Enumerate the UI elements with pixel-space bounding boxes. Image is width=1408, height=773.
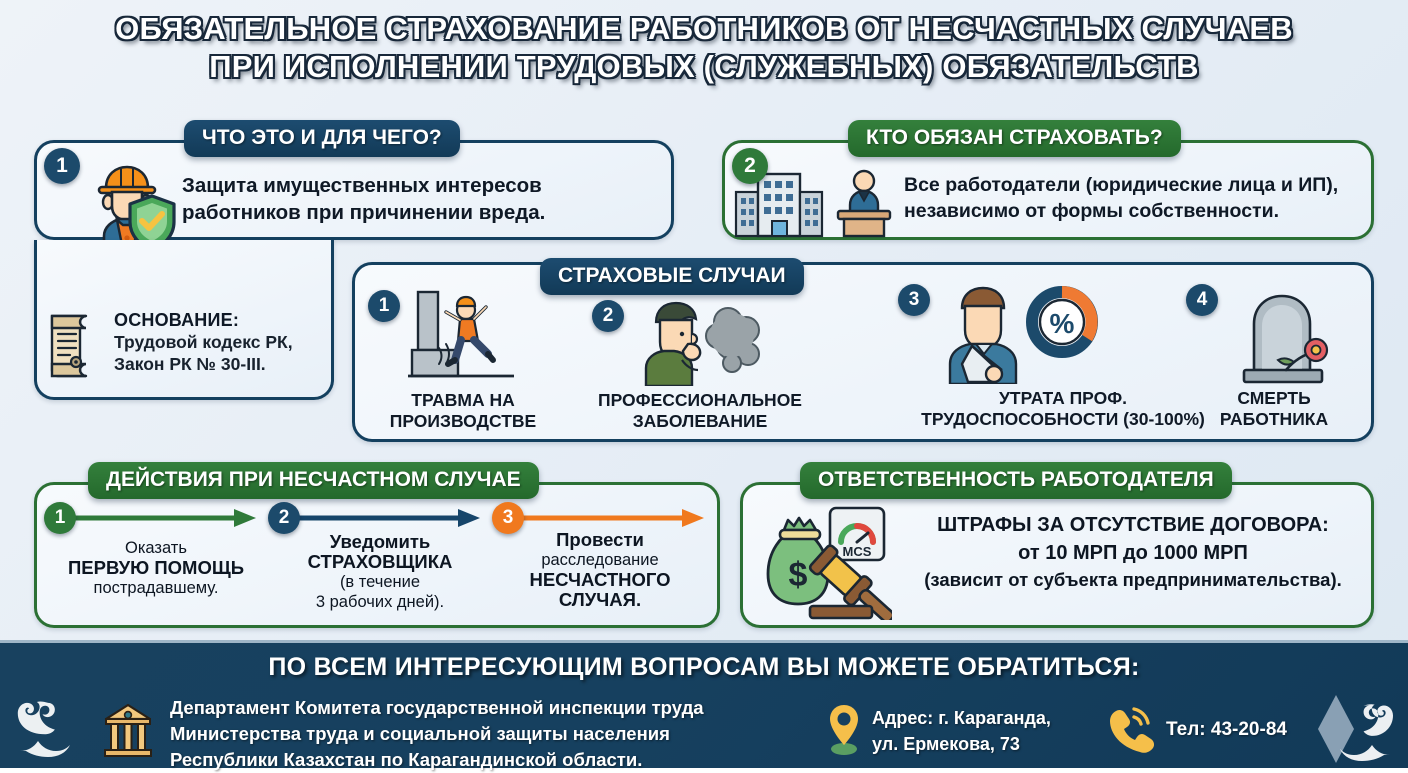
footer: ПО ВСЕМ ИНТЕРЕСУЮЩИМ ВОПРОСАМ ВЫ МОЖЕТЕ …: [0, 640, 1408, 768]
action-step-3: Провести расследование НЕСЧАСТНОГО СЛУЧА…: [496, 530, 704, 610]
heading-actions-on-accident: ДЕЙСТВИЯ ПРИ НЕСЧАСТНОМ СЛУЧАЕ: [88, 462, 539, 499]
heading-what-is-it: ЧТО ЭТО И ДЛЯ ЧЕГО?: [184, 120, 460, 157]
government-building-icon: [100, 703, 156, 766]
svg-text:%: %: [1050, 308, 1075, 339]
footer-phone: Тел: 43-20-84: [1166, 719, 1287, 741]
employer-responsibility-text: ШТРАФЫ ЗА ОТСУТСТВИЕ ДОГОВОРА: от 10 МРП…: [900, 512, 1366, 593]
badge-case-1: 1: [368, 290, 400, 322]
action-step-3-line-3: НЕСЧАСТНОГО: [496, 570, 704, 590]
falling-worker-icon: [404, 290, 558, 386]
phone-icon: [1104, 705, 1154, 762]
legal-basis-content: ОСНОВАНИЕ: Трудовой кодекс РК, Закон РК …: [46, 310, 293, 382]
footer-department-line-2: Министерства труда и социальной защиты н…: [170, 721, 810, 747]
footer-address-line-1: Адрес: г. Караганда,: [872, 705, 1112, 731]
kazakh-ornament-icon: [10, 695, 90, 772]
action-step-2: Уведомить СТРАХОВЩИКА (в течение 3 рабоч…: [272, 532, 488, 612]
insurance-case-3: 3 % УТРАТА ПРОФ. ТРУДОСПОСОБНОСТИ (30-10…: [898, 284, 1228, 430]
action-step-1-line-1: Оказать: [48, 538, 264, 558]
badge-action-3: 3: [492, 502, 524, 534]
fines-note: (зависит от субъекта предпринимательства…: [900, 567, 1366, 593]
heading-insurance-cases: СТРАХОВЫЕ СЛУЧАИ: [540, 258, 804, 295]
legal-basis-line-2: Закон РК № 30-III.: [114, 353, 293, 375]
badge-step-1: 1: [44, 148, 80, 184]
fines-range: от 10 МРП до 1000 МРП: [900, 539, 1366, 567]
svg-text:MCS: MCS: [843, 544, 872, 559]
action-step-3-line-1: Провести: [496, 530, 704, 550]
scroll-document-icon: [46, 310, 100, 382]
action-step-2-line-1: Уведомить: [272, 532, 488, 552]
svg-text:$: $: [789, 556, 808, 594]
title-line-1: ОБЯЗАТЕЛЬНОЕ СТРАХОВАНИЕ РАБОТНИКОВ ОТ Н…: [0, 10, 1408, 48]
badge-action-1: 1: [44, 502, 76, 534]
footer-department: Департамент Комитета государственной инс…: [170, 695, 810, 773]
badge-action-2: 2: [268, 502, 300, 534]
badge-case-3: 3: [898, 284, 930, 316]
legal-basis-title: ОСНОВАНИЕ:: [114, 310, 293, 331]
footer-address-line-2: ул. Ермекова, 73: [872, 731, 1112, 757]
coughing-person-smoke-icon: [632, 300, 808, 386]
action-step-1: Оказать ПЕРВУЮ ПОМОЩЬ пострадавшему.: [48, 538, 264, 598]
footer-department-line-3: Республики Казахстан по Карагандинской о…: [170, 747, 810, 773]
insurance-case-2-caption: ПРОФЕССИОНАЛЬНОЕ ЗАБОЛЕВАНИЕ: [592, 390, 808, 432]
heading-who-must-insure: КТО ОБЯЗАН СТРАХОВАТЬ?: [848, 120, 1181, 157]
action-step-3-line-4: СЛУЧАЯ.: [496, 590, 704, 610]
what-is-it-text: Защита имущественных интересов работнико…: [182, 172, 612, 226]
action-step-1-line-3: пострадавшему.: [48, 578, 264, 598]
action-step-3-line-2: расследование: [496, 550, 704, 570]
insurance-case-2: 2 ПРОФЕССИОНАЛЬНОЕ ЗАБОЛЕВАНИЕ: [592, 300, 808, 432]
page-title: ОБЯЗАТЕЛЬНОЕ СТРАХОВАНИЕ РАБОТНИКОВ ОТ Н…: [0, 10, 1408, 86]
badge-case-2: 2: [592, 300, 624, 332]
insurance-case-1: 1 ТРАВМА НА ПРОИЗВОДСТВЕ: [368, 290, 558, 432]
title-line-2: ПРИ ИСПОЛНЕНИИ ТРУДОВЫХ (СЛУЖЕБНЫХ) ОБЯЗ…: [0, 48, 1408, 86]
badge-case-4: 4: [1186, 284, 1218, 316]
gravestone-flower-icon: [1234, 284, 1362, 384]
footer-address: Адрес: г. Караганда, ул. Ермекова, 73: [872, 705, 1112, 757]
action-step-1-line-2: ПЕРВУЮ ПОМОЩЬ: [48, 558, 264, 578]
action-arrow-1: [48, 506, 258, 535]
fines-title: ШТРАФЫ ЗА ОТСУТСТВИЕ ДОГОВОРА:: [900, 512, 1366, 539]
insurance-case-1-caption: ТРАВМА НА ПРОИЗВОДСТВЕ: [368, 390, 558, 432]
worker-shield-icon: [84, 158, 180, 250]
map-pin-icon: [822, 701, 866, 762]
badge-step-2: 2: [732, 148, 768, 184]
money-bag-gavel-mcs-icon: MCS $: [762, 506, 892, 620]
kazakh-ornament-star-icon: [1280, 689, 1400, 772]
action-step-2-line-2: СТРАХОВЩИКА: [272, 552, 488, 572]
legal-basis-line-1: Трудовой кодекс РК,: [114, 331, 293, 353]
insurance-case-4: 4 СМЕРТЬ РАБОТНИКА: [1186, 284, 1362, 430]
insurance-case-4-caption: СМЕРТЬ РАБОТНИКА: [1186, 388, 1362, 430]
action-step-2-line-4: 3 рабочих дней).: [272, 592, 488, 612]
action-step-2-line-3: (в течение: [272, 572, 488, 592]
insurance-case-3-caption: УТРАТА ПРОФ. ТРУДОСПОСОБНОСТИ (30-100%): [898, 388, 1228, 430]
footer-title: ПО ВСЕМ ИНТЕРЕСУЮЩИМ ВОПРОСАМ ВЫ МОЖЕТЕ …: [0, 653, 1408, 682]
heading-employer-responsibility: ОТВЕТСТВЕННОСТЬ РАБОТОДАТЕЛЯ: [800, 462, 1232, 499]
footer-department-line-1: Департамент Комитета государственной инс…: [170, 695, 810, 721]
who-must-insure-text: Все работодатели (юридические лица и ИП)…: [904, 172, 1356, 224]
